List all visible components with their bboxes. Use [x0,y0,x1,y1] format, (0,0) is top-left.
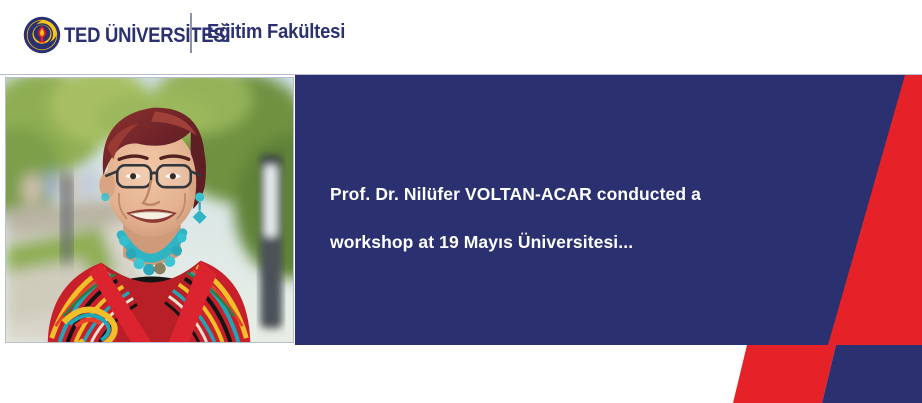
bottom-decor-shapes [0,345,922,403]
ted-university-crest-icon [23,16,61,54]
brand-divider [190,13,192,53]
site-header: TED ÜNİVERSİTESİ Eğitim Fakültesi [0,0,922,75]
headline-line-2: workshop at 19 Mayıs Üniversitesi... [330,218,760,266]
page-root: TED ÜNİVERSİTESİ Eğitim Fakültesi [0,0,922,403]
portrait-photo-artwork [6,78,293,342]
bottom-decor-band [0,345,922,403]
feature-banner[interactable]: Prof. Dr. Nilüfer VOLTAN-ACAR conducted … [0,75,922,345]
university-name: TED ÜNİVERSİTESİ [64,25,230,46]
faculty-name: Eğitim Fakültesi [207,22,345,42]
portrait-photo [5,77,294,343]
banner-headline[interactable]: Prof. Dr. Nilüfer VOLTAN-ACAR conducted … [330,170,760,266]
headline-line-1: Prof. Dr. Nilüfer VOLTAN-ACAR conducted … [330,170,760,218]
